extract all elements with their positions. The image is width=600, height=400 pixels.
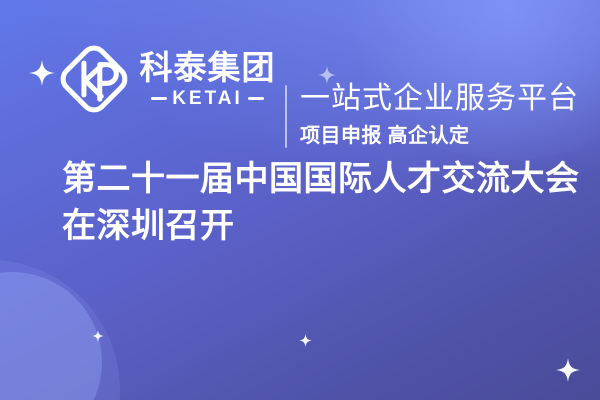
wordmark-rule-right	[248, 97, 264, 100]
page-title: 第二十一届中国国际人才交流大会 在深圳召开	[62, 156, 562, 250]
sparkle-icon-bottom-right	[556, 358, 580, 382]
page-title-line-2: 在深圳召开	[62, 203, 562, 250]
promo-banner: 科泰集团 KETAI 一站式企业服务平台 项目申报 高企认定 第二十一届中国国际…	[0, 0, 600, 400]
sparkle-icon-bottom-1	[92, 330, 104, 342]
tagline-block: 一站式企业服务平台 项目申报 高企认定	[300, 80, 580, 150]
tagline-main: 一站式企业服务平台	[300, 80, 580, 118]
sparkle-icon-bottom-2	[299, 334, 312, 347]
background-circle-outer-bottom-left	[0, 260, 120, 400]
company-name-cn: 科泰集团	[140, 51, 276, 84]
company-wordmark: 科泰集团 KETAI	[135, 46, 280, 112]
company-name-en: KETAI	[172, 89, 243, 108]
wordmark-rule-left	[151, 97, 167, 100]
header-divider	[285, 85, 287, 148]
tagline-sub: 项目申报 高企认定	[300, 122, 580, 150]
page-title-line-1: 第二十一届中国国际人才交流大会	[62, 156, 562, 203]
company-name-en-row: KETAI	[151, 89, 264, 108]
background-circle-bottom-left	[0, 272, 102, 400]
banner-header: 科泰集团 KETAI 一站式企业服务平台 项目申报 高企认定	[0, 40, 600, 120]
kp-monogram-diamond-icon	[58, 43, 130, 115]
